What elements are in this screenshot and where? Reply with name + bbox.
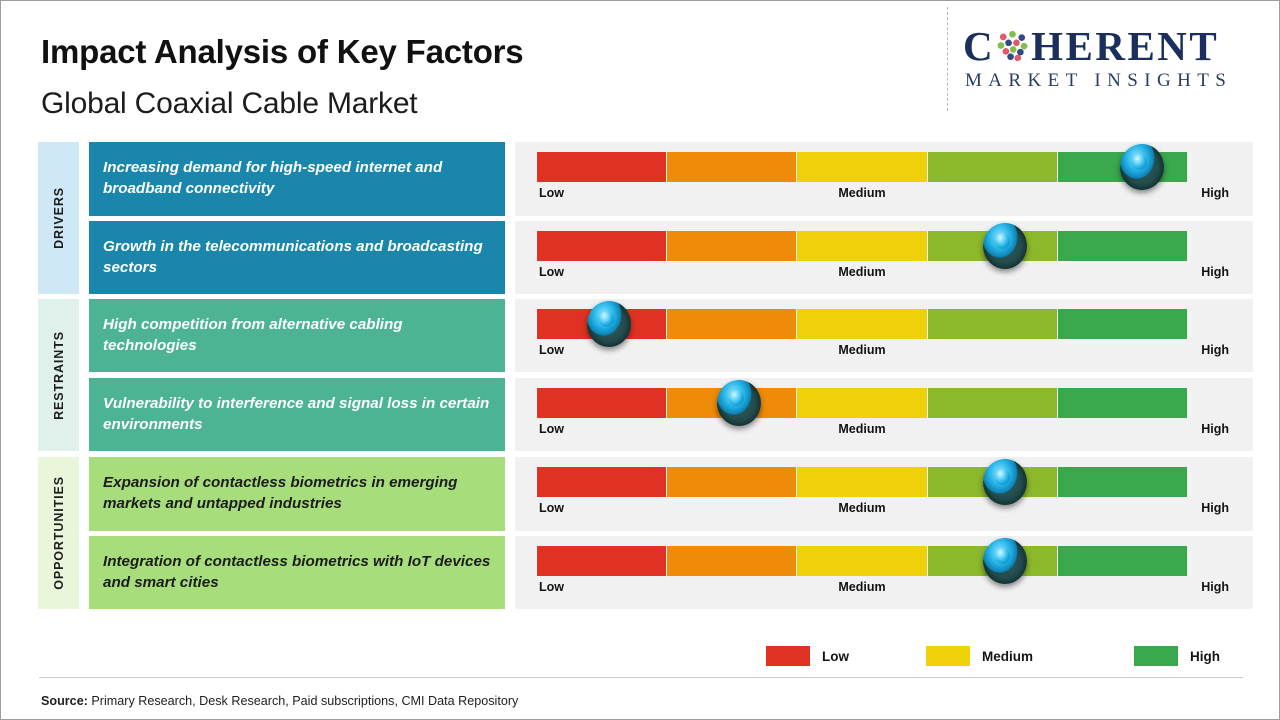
gauge-segment-3 bbox=[797, 309, 927, 339]
factor-text: High competition from alternative cablin… bbox=[103, 315, 491, 357]
gauge-marker[interactable] bbox=[983, 538, 1027, 584]
factor-block: High competition from alternative cablin… bbox=[89, 299, 505, 372]
gauge-segment-3 bbox=[797, 467, 927, 497]
legend-item-low: Low bbox=[766, 646, 849, 666]
impact-gauge: LowMediumHigh bbox=[515, 457, 1253, 531]
gauge-segment-1 bbox=[537, 231, 667, 261]
gauge-segment-2 bbox=[667, 152, 797, 182]
slide-canvas: Impact Analysis of Key Factors Global Co… bbox=[0, 0, 1280, 720]
gauge-segment-5 bbox=[1058, 546, 1187, 576]
scale-label-high: High bbox=[1201, 343, 1229, 357]
gauge-segment-5 bbox=[1058, 309, 1187, 339]
gauge-segment-3 bbox=[797, 152, 927, 182]
factor-text: Expansion of contactless biometrics in e… bbox=[103, 473, 491, 515]
gauge-segment-5 bbox=[1058, 467, 1187, 497]
legend-item-medium: Medium bbox=[926, 646, 1033, 666]
category-tab-opportunities: OPPORTUNITIES bbox=[38, 457, 79, 609]
category-label: OPPORTUNITIES bbox=[52, 476, 66, 590]
scale-label-high: High bbox=[1201, 501, 1229, 515]
gauge-scale-labels: LowMediumHigh bbox=[537, 265, 1187, 283]
logo-tagline: MARKET INSIGHTS bbox=[963, 69, 1263, 93]
gauge-marker[interactable] bbox=[587, 301, 631, 347]
factor-text: Integration of contactless biometrics wi… bbox=[103, 552, 491, 594]
scale-label-medium: Medium bbox=[838, 501, 885, 515]
scale-label-high: High bbox=[1201, 422, 1229, 436]
gauge-segment-4 bbox=[928, 309, 1058, 339]
gauge-scale-labels: LowMediumHigh bbox=[537, 186, 1187, 204]
footer-divider bbox=[39, 677, 1243, 678]
scale-label-low: Low bbox=[539, 501, 564, 515]
gauge-segment-4 bbox=[928, 152, 1058, 182]
gauge-marker[interactable] bbox=[983, 459, 1027, 505]
factor-block: Integration of contactless biometrics wi… bbox=[89, 536, 505, 609]
legend: LowMediumHigh bbox=[766, 646, 1186, 670]
brand-logo: CHERENT MARKET INSIGHTS bbox=[963, 23, 1263, 103]
gauge-segment-1 bbox=[537, 546, 667, 576]
legend-label: Low bbox=[822, 649, 849, 664]
category-tab-drivers: DRIVERS bbox=[38, 142, 79, 294]
legend-label: High bbox=[1190, 649, 1220, 664]
gauge-segment-2 bbox=[667, 231, 797, 261]
scale-label-high: High bbox=[1201, 186, 1229, 200]
impact-gauge: LowMediumHigh bbox=[515, 142, 1253, 216]
gauge-segment-3 bbox=[797, 231, 927, 261]
factor-text: Increasing demand for high-speed interne… bbox=[103, 158, 491, 200]
gauge-segment-3 bbox=[797, 546, 927, 576]
gauge-track bbox=[537, 467, 1187, 497]
logo-divider bbox=[947, 7, 948, 111]
gauge-track bbox=[537, 388, 1187, 418]
gauge-segment-1 bbox=[537, 467, 667, 497]
gauge-track bbox=[537, 152, 1187, 182]
gauge-segment-1 bbox=[537, 388, 667, 418]
source-label: Source: bbox=[41, 694, 88, 708]
category-tab-restraints: RESTRAINTS bbox=[38, 299, 79, 451]
scale-label-medium: Medium bbox=[838, 422, 885, 436]
gauge-scale-labels: LowMediumHigh bbox=[537, 343, 1187, 361]
page-subtitle: Global Coaxial Cable Market bbox=[41, 87, 417, 121]
factor-block: Expansion of contactless biometrics in e… bbox=[89, 457, 505, 531]
gauge-segment-2 bbox=[667, 309, 797, 339]
scale-label-medium: Medium bbox=[838, 580, 885, 594]
legend-swatch bbox=[766, 646, 810, 666]
legend-label: Medium bbox=[982, 649, 1033, 664]
legend-item-high: High bbox=[1134, 646, 1220, 666]
scale-label-low: Low bbox=[539, 343, 564, 357]
logo-letter-c: C bbox=[963, 23, 995, 69]
source-text: Primary Research, Desk Research, Paid su… bbox=[88, 694, 518, 708]
impact-gauge: LowMediumHigh bbox=[515, 378, 1253, 451]
scale-label-high: High bbox=[1201, 265, 1229, 279]
source-note: Source: Primary Research, Desk Research,… bbox=[41, 694, 518, 708]
legend-swatch bbox=[1134, 646, 1178, 666]
scale-label-medium: Medium bbox=[838, 343, 885, 357]
page-title: Impact Analysis of Key Factors bbox=[41, 33, 523, 71]
gauge-marker[interactable] bbox=[1120, 144, 1164, 190]
factor-block: Increasing demand for high-speed interne… bbox=[89, 142, 505, 216]
scale-label-low: Low bbox=[539, 186, 564, 200]
gauge-scale-labels: LowMediumHigh bbox=[537, 501, 1187, 519]
gauge-segment-2 bbox=[667, 546, 797, 576]
gauge-segment-5 bbox=[1058, 231, 1187, 261]
scale-label-high: High bbox=[1201, 580, 1229, 594]
factor-text: Vulnerability to interference and signal… bbox=[103, 394, 491, 436]
gauge-track bbox=[537, 309, 1187, 339]
factor-text: Growth in the telecommunications and bro… bbox=[103, 237, 491, 279]
factor-block: Vulnerability to interference and signal… bbox=[89, 378, 505, 451]
scale-label-medium: Medium bbox=[838, 186, 885, 200]
gauge-track bbox=[537, 546, 1187, 576]
scale-label-medium: Medium bbox=[838, 265, 885, 279]
gauge-segment-4 bbox=[928, 388, 1058, 418]
gauge-marker[interactable] bbox=[983, 223, 1027, 269]
impact-gauge: LowMediumHigh bbox=[515, 536, 1253, 609]
gauge-segment-2 bbox=[667, 467, 797, 497]
category-label: DRIVERS bbox=[52, 187, 66, 249]
factor-block: Growth in the telecommunications and bro… bbox=[89, 221, 505, 294]
impact-gauge: LowMediumHigh bbox=[515, 299, 1253, 372]
globe-icon bbox=[996, 29, 1029, 62]
scale-label-low: Low bbox=[539, 580, 564, 594]
gauge-segment-5 bbox=[1058, 388, 1187, 418]
gauge-segment-3 bbox=[797, 388, 927, 418]
category-label: RESTRAINTS bbox=[52, 331, 66, 420]
impact-gauge: LowMediumHigh bbox=[515, 221, 1253, 294]
gauge-marker[interactable] bbox=[717, 380, 761, 426]
gauge-scale-labels: LowMediumHigh bbox=[537, 580, 1187, 598]
legend-swatch bbox=[926, 646, 970, 666]
logo-wordmark: CHERENT bbox=[963, 23, 1263, 69]
gauge-scale-labels: LowMediumHigh bbox=[537, 422, 1187, 440]
gauge-segment-1 bbox=[537, 152, 667, 182]
gauge-track bbox=[537, 231, 1187, 261]
scale-label-low: Low bbox=[539, 422, 564, 436]
scale-label-low: Low bbox=[539, 265, 564, 279]
